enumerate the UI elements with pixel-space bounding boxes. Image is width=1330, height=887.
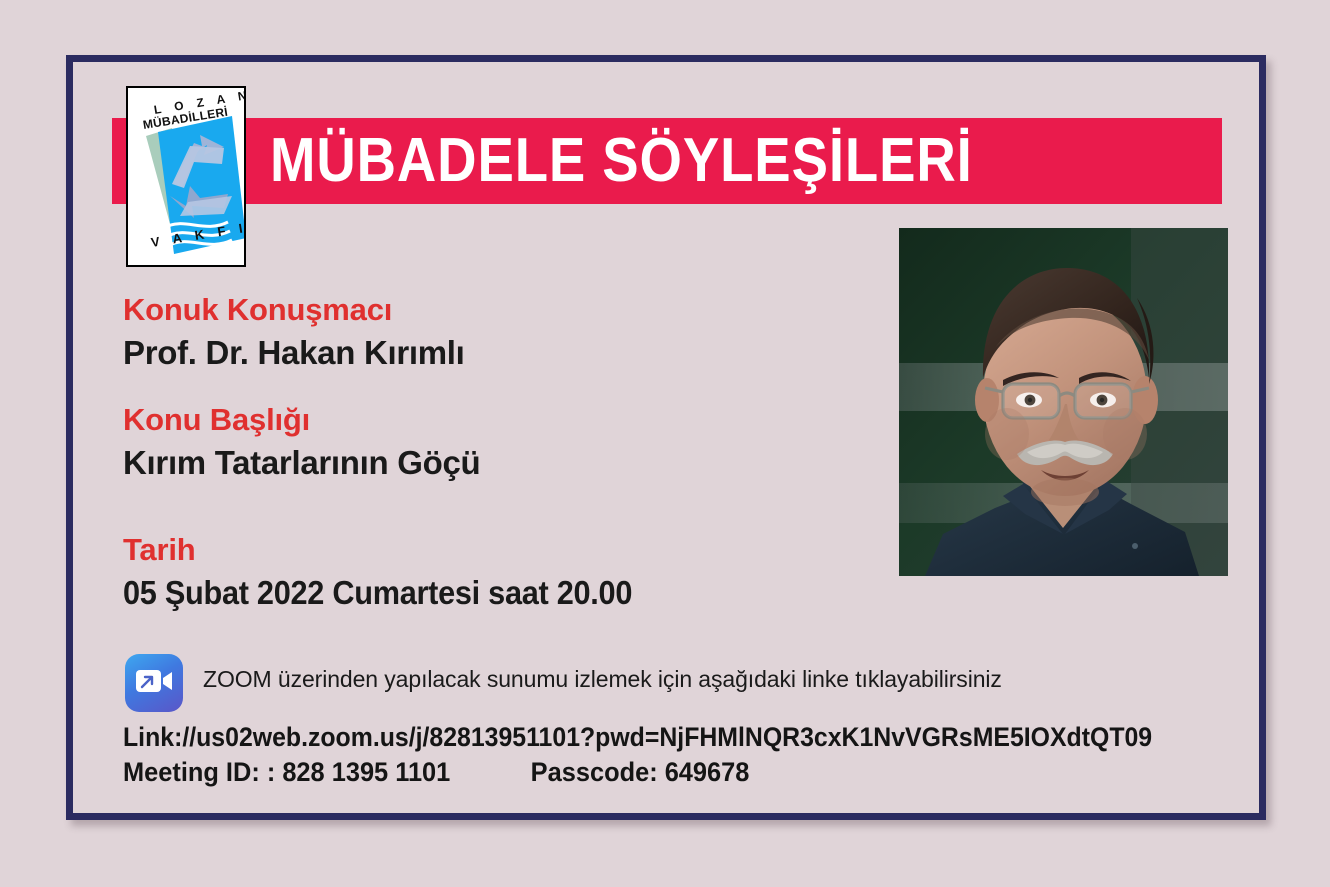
meeting-id: Meeting ID: : 828 1395 1101 <box>123 757 450 787</box>
speaker-label: Konuk Konuşmacı <box>123 290 392 330</box>
poster-root: MÜBADELE SÖYLEŞİLERİ L O Z A N <box>0 0 1330 887</box>
speaker-name: Prof. Dr. Hakan Kırımlı <box>123 332 465 375</box>
logo-artwork: L O Z A N MÜBADİLLERİ V A K F I <box>128 88 244 265</box>
zoom-link[interactable]: Link://us02web.zoom.us/j/82813951101?pwd… <box>123 722 1152 753</box>
topic-value: Kırım Tatarlarının Göçü <box>123 442 480 485</box>
lozan-mubadilleri-vakfi-logo: L O Z A N MÜBADİLLERİ V A K F I <box>126 86 246 267</box>
zoom-instruction-text: ZOOM üzerinden yapılacak sunumu izlemek … <box>203 666 1002 693</box>
speaker-portrait <box>899 228 1228 576</box>
video-camera-icon <box>135 669 173 697</box>
date-label: Tarih <box>123 530 196 570</box>
header-banner: MÜBADELE SÖYLEŞİLERİ <box>112 118 1222 204</box>
passcode: Passcode: 649678 <box>531 757 750 787</box>
zoom-credentials: Meeting ID: : 828 1395 1101 Passcode: 64… <box>123 757 749 788</box>
zoom-app-icon <box>125 654 183 712</box>
date-value: 05 Şubat 2022 Cumartesi saat 20.00 <box>123 572 632 615</box>
topic-label: Konu Başlığı <box>123 400 310 440</box>
page-title: MÜBADELE SÖYLEŞİLERİ <box>270 119 973 203</box>
portrait-image <box>899 228 1228 576</box>
